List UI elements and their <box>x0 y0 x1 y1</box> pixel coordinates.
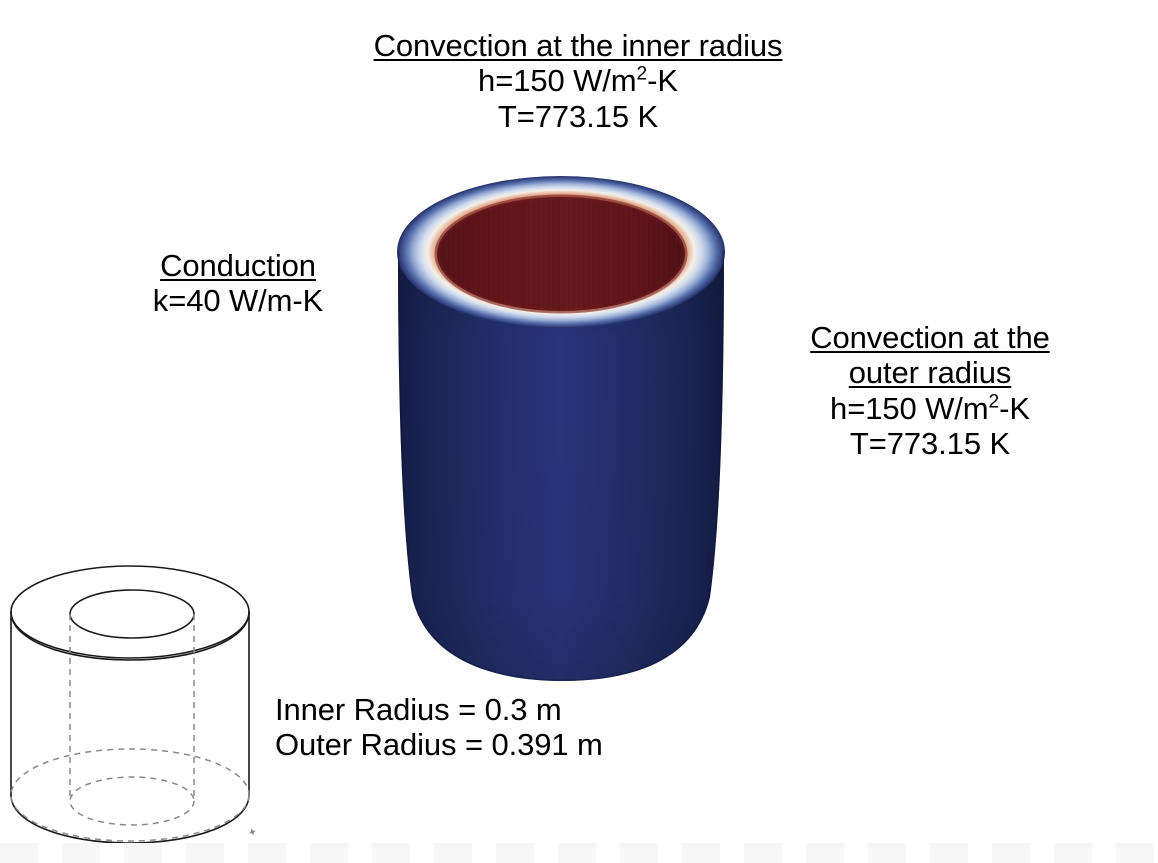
outer-convection-temperature: T=773.15 K <box>765 426 1095 461</box>
wireframe-inner-top-ellipse <box>70 590 194 638</box>
hollow-cylinder-wireframe <box>2 548 264 848</box>
wireframe-hidden-outer-bottom-ellipse <box>11 749 249 841</box>
conduction-heading: Conduction <box>103 248 373 283</box>
bottom-stripe-band <box>0 843 1158 863</box>
inner-convection-temperature: T=773.15 K <box>318 99 838 134</box>
annotation-outer-convection: Convection at the outer radius h=150 W/m… <box>765 320 1095 461</box>
annotation-conduction: Conduction k=40 W/m-K <box>103 248 373 319</box>
cylinder-thermal-render <box>378 165 748 690</box>
wireframe-wall-thickness-arc <box>11 612 249 660</box>
figure-canvas: Convection at the inner radius h=150 W/m… <box>0 0 1158 863</box>
outer-convection-heading-line2: outer radius <box>765 355 1095 390</box>
outer-convection-h-value: h=150 W/m2-K <box>765 391 1095 426</box>
outer-convection-h-label: h=150 W/m <box>830 391 988 426</box>
outer-convection-h-suffix: -K <box>999 391 1030 426</box>
inner-convection-h-exponent: 2 <box>637 64 648 85</box>
annotation-dimensions: Inner Radius = 0.3 m Outer Radius = 0.39… <box>275 692 705 763</box>
inner-convection-h-label: h=150 W/m <box>478 63 636 98</box>
inner-convection-heading: Convection at the inner radius <box>318 28 838 63</box>
outer-convection-heading-line1: Convection at the <box>765 320 1095 355</box>
inner-convection-h-suffix: -K <box>647 63 678 98</box>
wireframe-hidden-inner-bottom-ellipse <box>70 777 194 825</box>
outer-convection-h-exponent: 2 <box>989 391 1000 412</box>
inner-convection-h-value: h=150 W/m2-K <box>318 63 838 98</box>
conduction-k-value: k=40 W/m-K <box>103 283 373 318</box>
inner-radius-label: Inner Radius = 0.3 m <box>275 692 705 727</box>
wireframe-outer-top-ellipse <box>11 566 249 658</box>
wireframe-base-front-arc <box>11 795 249 843</box>
cylinder-inner-bore <box>437 197 685 311</box>
outer-radius-label: Outer Radius = 0.391 m <box>275 727 705 762</box>
annotation-inner-convection: Convection at the inner radius h=150 W/m… <box>318 28 838 134</box>
